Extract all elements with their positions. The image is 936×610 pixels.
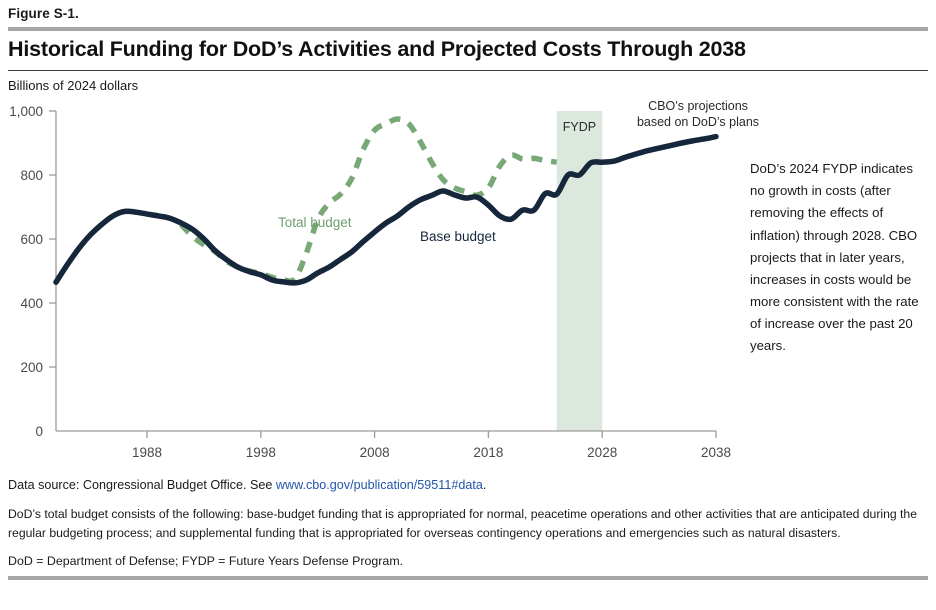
- base-budget-series: [56, 137, 716, 283]
- fydp-band-label: FYDP: [563, 120, 596, 134]
- svg-text:2028: 2028: [587, 445, 617, 460]
- projection-callout-line2: based on DoD’s plans: [637, 115, 759, 129]
- svg-text:2038: 2038: [701, 445, 731, 460]
- figure-notes: Data source: Congressional Budget Office…: [8, 478, 928, 580]
- base-budget-label: Base budget: [420, 229, 496, 244]
- svg-text:1988: 1988: [132, 445, 162, 460]
- note-definitions: DoD = Department of Defense; FYDP = Futu…: [8, 554, 928, 568]
- figure-page: Figure S-1. Historical Funding for DoD’s…: [0, 0, 936, 610]
- note-body-text: DoD’s total budget consists of the follo…: [8, 505, 928, 542]
- projection-callout-line1: CBO’s projections: [648, 99, 748, 113]
- svg-text:400: 400: [20, 296, 43, 311]
- data-source-link[interactable]: www.cbo.gov/publication/59511#data: [276, 478, 483, 492]
- y-axis-unit-label: Billions of 2024 dollars: [8, 71, 928, 93]
- svg-text:2018: 2018: [473, 445, 503, 460]
- svg-text:0: 0: [35, 424, 43, 439]
- svg-text:1,000: 1,000: [9, 104, 43, 119]
- svg-text:2008: 2008: [360, 445, 390, 460]
- footer-rule: [8, 576, 928, 580]
- data-source-prefix: Data source: Congressional Budget Office…: [8, 478, 276, 492]
- data-source-note: Data source: Congressional Budget Office…: [8, 478, 928, 492]
- total-budget-label: Total budget: [278, 215, 352, 230]
- side-note-text: DoD’s 2024 FYDP indicates no growth in c…: [750, 158, 930, 358]
- svg-text:200: 200: [20, 360, 43, 375]
- svg-text:1998: 1998: [246, 445, 276, 460]
- svg-text:800: 800: [20, 168, 43, 183]
- fydp-shaded-band: [557, 111, 603, 431]
- total-budget-series: [181, 119, 557, 281]
- svg-text:600: 600: [20, 232, 43, 247]
- figure-title: Historical Funding for DoD’s Activities …: [8, 31, 928, 70]
- figure-number: Figure S-1.: [8, 0, 928, 21]
- data-source-suffix: .: [483, 478, 487, 492]
